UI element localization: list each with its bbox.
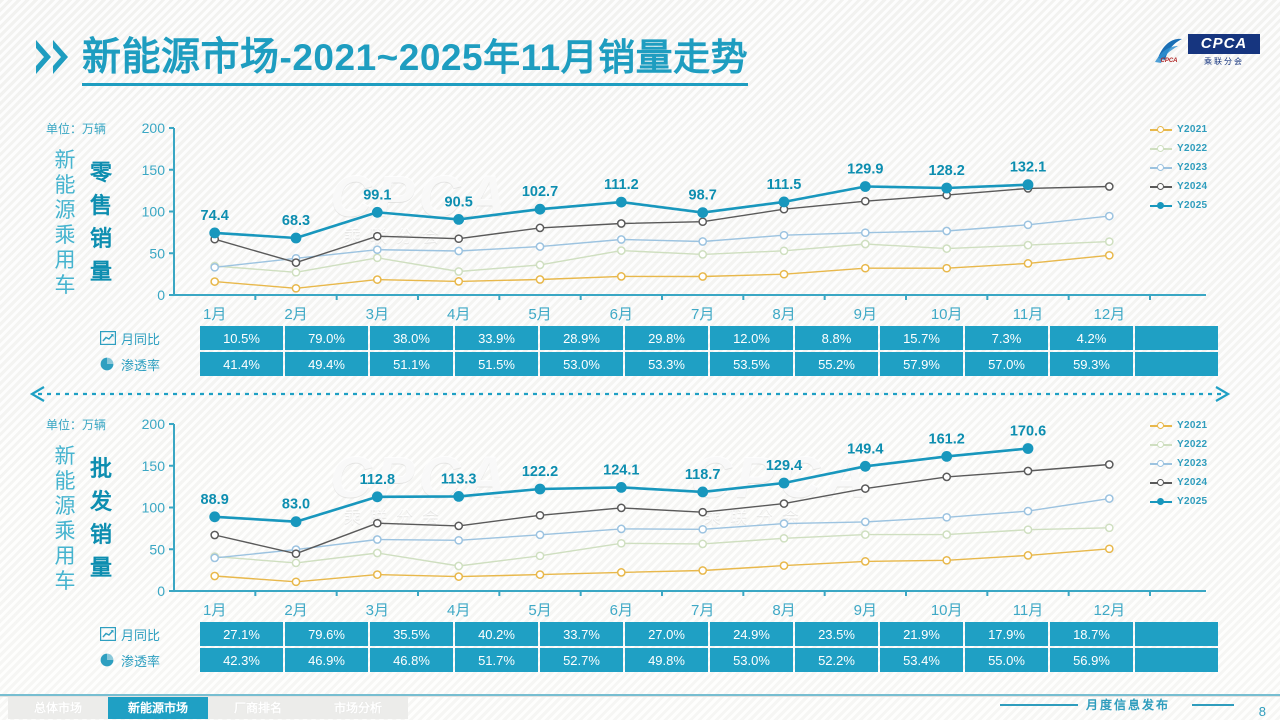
legend-wholesale: Y2021Y2022Y2023Y2024Y2025	[1150, 416, 1212, 511]
data-point-Y2024	[1106, 461, 1113, 468]
legend-item-label: Y2022	[1177, 143, 1207, 154]
table-cell: 35.5%	[370, 622, 453, 646]
table-row: 渗透率41.4%49.4%51.1%51.5%53.0%53.3%53.5%55…	[96, 352, 1218, 376]
table-cell: 46.8%	[370, 648, 453, 672]
table-cell: 42.3%	[200, 648, 283, 672]
table-cell	[1135, 352, 1218, 376]
y-axis-tick: 100	[142, 204, 166, 220]
metric-label-retail: 零售销量	[88, 156, 114, 288]
data-point-Y2023	[943, 227, 950, 234]
footer-release-label: 月度信息发布	[1086, 696, 1170, 713]
table-cell: 53.0%	[710, 648, 793, 672]
table-cell: 59.3%	[1050, 352, 1133, 376]
data-point-Y2023	[536, 531, 543, 538]
data-point-Y2022	[1024, 242, 1031, 249]
x-axis-tick: 12月	[1093, 306, 1125, 323]
cpca-logo-mark-text: CPCA	[1152, 58, 1186, 64]
data-point-Y2024	[699, 509, 706, 516]
x-axis-tick: 9月	[854, 602, 877, 619]
data-label: 161.2	[929, 431, 965, 447]
data-point-Y2023	[618, 236, 625, 243]
data-point-Y2022	[618, 247, 625, 254]
data-point-Y2024	[374, 520, 381, 527]
legend-marker-icon	[1150, 439, 1172, 451]
panel-wholesale: 单位：万辆 新能源乘用车 批发销量 CPCA 乘联分会 CPCA 乘联分会 05…	[0, 404, 1280, 686]
data-table-retail: 月同比10.5%79.0%38.0%33.9%28.9%29.8%12.0%8.…	[96, 326, 1218, 378]
data-point-Y2023	[374, 246, 381, 253]
data-label: 113.3	[441, 471, 477, 487]
unit-label-retail: 单位：万辆	[46, 120, 106, 137]
y-axis-tick: 50	[149, 541, 165, 557]
x-axis-tick: 11月	[1013, 602, 1044, 619]
y-axis-tick: 100	[142, 500, 166, 516]
data-point-Y2023	[374, 536, 381, 543]
data-point-Y2021	[211, 278, 218, 285]
table-cell: 33.7%	[540, 622, 623, 646]
legend-marker-icon	[1150, 162, 1172, 174]
data-point-Y2023	[455, 247, 462, 254]
table-row: 月同比10.5%79.0%38.0%33.9%28.9%29.8%12.0%8.…	[96, 326, 1218, 350]
data-label: 83.0	[282, 497, 310, 513]
table-cell: 52.2%	[795, 648, 878, 672]
table-cell: 51.5%	[455, 352, 538, 376]
data-label: 90.5	[445, 194, 473, 210]
x-axis-tick: 5月	[528, 306, 551, 323]
data-point-Y2021	[536, 571, 543, 578]
data-point-Y2023	[211, 264, 218, 271]
data-point-Y2024	[455, 522, 462, 529]
data-point-Y2022	[292, 559, 299, 566]
legend-marker-icon	[1150, 200, 1172, 212]
y-axis-tick: 0	[157, 583, 165, 599]
data-point-Y2021	[943, 265, 950, 272]
table-row-header: 渗透率	[96, 352, 200, 376]
table-cell	[1135, 326, 1218, 350]
data-label: 129.4	[766, 458, 802, 474]
cpca-logo-text: CPCA	[1188, 34, 1260, 54]
chart-retail: 0501001502001月2月3月4月5月6月7月8月9月10月11月12月7…	[128, 114, 1218, 319]
table-cell: 46.9%	[285, 648, 368, 672]
table-cell: 27.0%	[625, 622, 708, 646]
legend-marker-icon	[1150, 420, 1172, 432]
footer-release: 月度信息发布 8	[1000, 696, 1270, 720]
x-axis-tick: 2月	[284, 306, 307, 323]
data-point-Y2024	[292, 259, 299, 266]
table-row-header: 渗透率	[96, 648, 200, 672]
data-point-Y2024	[862, 485, 869, 492]
legend-item-Y2023[interactable]: Y2023	[1150, 454, 1212, 473]
x-axis-tick: 6月	[610, 602, 633, 619]
data-label: 118.7	[685, 467, 721, 483]
table-cell: 27.1%	[200, 622, 283, 646]
footer-line-left	[1000, 704, 1078, 706]
data-point-Y2025	[210, 512, 219, 521]
table-cell: 55.0%	[965, 648, 1048, 672]
legend-marker-icon	[1150, 496, 1172, 508]
data-point-Y2021	[699, 273, 706, 280]
series-line-Y2021	[215, 255, 1110, 288]
data-point-Y2022	[943, 531, 950, 538]
x-axis-tick: 7月	[691, 306, 714, 323]
cpca-logo: CPCA 乘联分会 CPCA	[1152, 32, 1262, 74]
data-point-Y2024	[536, 224, 543, 231]
data-point-Y2025	[373, 492, 382, 501]
legend-item-label: Y2023	[1177, 458, 1207, 469]
page-title: 新能源市场-2021~2025年11月销量走势	[82, 36, 748, 86]
footer-tab-2[interactable]: 厂商排名	[208, 697, 308, 719]
legend-item-Y2021[interactable]: Y2021	[1150, 416, 1212, 435]
x-axis-tick: 7月	[691, 602, 714, 619]
legend-marker-icon	[1150, 458, 1172, 470]
legend-item-Y2024[interactable]: Y2024	[1150, 177, 1212, 196]
data-point-Y2022	[1106, 524, 1113, 531]
data-point-Y2024	[536, 512, 543, 519]
table-cells: 41.4%49.4%51.1%51.5%53.0%53.3%53.5%55.2%…	[200, 352, 1218, 376]
table-row: 渗透率42.3%46.9%46.8%51.7%52.7%49.8%53.0%52…	[96, 648, 1218, 672]
legend-item-label: Y2022	[1177, 439, 1207, 450]
table-cell: 51.1%	[370, 352, 453, 376]
data-point-Y2025	[779, 478, 788, 487]
table-cell: 15.7%	[880, 326, 963, 350]
table-cell: 57.0%	[965, 352, 1048, 376]
data-point-Y2021	[374, 276, 381, 283]
table-cell: 53.4%	[880, 648, 963, 672]
table-row-header: 月同比	[96, 326, 200, 350]
legend-item-label: Y2025	[1177, 200, 1207, 211]
data-point-Y2022	[374, 254, 381, 261]
table-cell: 8.8%	[795, 326, 878, 350]
x-axis-tick: 8月	[772, 306, 795, 323]
data-point-Y2021	[1024, 552, 1031, 559]
x-axis-tick: 9月	[854, 306, 877, 323]
x-axis-tick: 2月	[284, 602, 307, 619]
y-axis-tick: 150	[142, 458, 166, 474]
table-cell: 12.0%	[710, 326, 793, 350]
legend-marker-icon	[1150, 124, 1172, 136]
section-divider	[24, 386, 1236, 402]
pie-chart-icon	[100, 357, 116, 371]
category-label-wholesale: 新能源乘用车	[52, 444, 78, 594]
chart-wholesale: 0501001502001月2月3月4月5月6月7月8月9月10月11月12月8…	[128, 410, 1218, 615]
data-point-Y2021	[780, 562, 787, 569]
data-point-Y2021	[862, 265, 869, 272]
data-point-Y2022	[780, 247, 787, 254]
data-point-Y2023	[699, 238, 706, 245]
legend-item-label: Y2021	[1177, 124, 1207, 135]
data-point-Y2024	[1024, 467, 1031, 474]
cpca-logo-subtitle: 乘联分会	[1188, 56, 1260, 67]
table-cell: 79.0%	[285, 326, 368, 350]
data-point-Y2025	[617, 198, 626, 207]
data-point-Y2025	[291, 517, 300, 526]
series-line-Y2023	[215, 216, 1110, 267]
data-label: 124.1	[603, 462, 639, 478]
data-point-Y2021	[618, 273, 625, 280]
legend-marker-icon	[1150, 181, 1172, 193]
data-point-Y2022	[780, 535, 787, 542]
data-point-Y2024	[780, 500, 787, 507]
chart-retail-svg: 0501001502001月2月3月4月5月6月7月8月9月10月11月12月7…	[128, 114, 1218, 329]
data-point-Y2023	[780, 520, 787, 527]
data-point-Y2023	[618, 525, 625, 532]
data-point-Y2023	[862, 229, 869, 236]
table-cell: 56.9%	[1050, 648, 1133, 672]
data-label: 88.9	[201, 492, 229, 508]
data-point-Y2021	[211, 572, 218, 579]
table-cells: 42.3%46.9%46.8%51.7%52.7%49.8%53.0%52.2%…	[200, 648, 1218, 672]
data-point-Y2025	[454, 492, 463, 501]
data-point-Y2022	[1024, 526, 1031, 533]
data-point-Y2025	[535, 484, 544, 493]
data-point-Y2025	[698, 487, 707, 496]
data-point-Y2025	[861, 182, 870, 191]
table-cell: 53.0%	[540, 352, 623, 376]
data-point-Y2025	[454, 215, 463, 224]
slide-footer: 总体市场新能源市场厂商排名市场分析 月度信息发布 8	[0, 694, 1280, 720]
data-point-Y2025	[779, 197, 788, 206]
series-line-Y2024	[215, 187, 1110, 263]
slide: 新能源市场-2021~2025年11月销量走势 CPCA 乘联分会 CPCA 单…	[0, 0, 1280, 720]
x-axis-tick: 6月	[610, 306, 633, 323]
table-cell: 49.8%	[625, 648, 708, 672]
category-label-retail: 新能源乘用车	[52, 148, 78, 298]
data-point-Y2022	[618, 540, 625, 547]
data-label: 98.7	[689, 188, 717, 204]
data-point-Y2021	[292, 578, 299, 585]
legend-item-Y2023[interactable]: Y2023	[1150, 158, 1212, 177]
data-point-Y2025	[291, 233, 300, 242]
legend-item-label: Y2023	[1177, 162, 1207, 173]
x-axis-tick: 4月	[447, 306, 470, 323]
data-point-Y2022	[455, 562, 462, 569]
data-point-Y2025	[210, 228, 219, 237]
table-cell: 23.5%	[795, 622, 878, 646]
data-point-Y2025	[861, 462, 870, 471]
chart-wholesale-svg: 0501001502001月2月3月4月5月6月7月8月9月10月11月12月8…	[128, 410, 1218, 625]
footer-tabs: 总体市场新能源市场厂商排名市场分析	[8, 697, 408, 719]
legend-item-label: Y2024	[1177, 181, 1207, 192]
data-point-Y2025	[942, 452, 951, 461]
data-point-Y2025	[698, 208, 707, 217]
data-label: 99.1	[363, 187, 391, 203]
table-cell: 17.9%	[965, 622, 1048, 646]
data-point-Y2025	[1023, 180, 1032, 189]
table-cell: 18.7%	[1050, 622, 1133, 646]
data-point-Y2021	[455, 573, 462, 580]
table-cell: 28.9%	[540, 326, 623, 350]
legend-marker-icon	[1150, 477, 1172, 489]
data-point-Y2021	[1024, 260, 1031, 267]
series-line-Y2021	[215, 549, 1110, 582]
x-axis-tick: 5月	[528, 602, 551, 619]
data-point-Y2024	[618, 504, 625, 511]
slide-header: 新能源市场-2021~2025年11月销量走势 CPCA 乘联分会 CPCA	[0, 14, 1280, 84]
page-title-main: 新能源市场	[82, 36, 280, 79]
footer-tab-0[interactable]: 总体市场	[8, 697, 108, 719]
x-axis-tick: 4月	[447, 602, 470, 619]
data-point-Y2023	[699, 526, 706, 533]
data-point-Y2023	[455, 537, 462, 544]
data-point-Y2021	[618, 569, 625, 576]
data-point-Y2025	[373, 208, 382, 217]
table-cell: 51.7%	[455, 648, 538, 672]
x-axis-tick: 10月	[931, 306, 963, 323]
legend-retail: Y2021Y2022Y2023Y2024Y2025	[1150, 120, 1212, 215]
table-cells: 10.5%79.0%38.0%33.9%28.9%29.8%12.0%8.8%1…	[200, 326, 1218, 350]
legend-item-Y2024[interactable]: Y2024	[1150, 473, 1212, 492]
legend-marker-icon	[1150, 143, 1172, 155]
data-point-Y2023	[862, 518, 869, 525]
x-axis-tick: 8月	[772, 602, 795, 619]
data-label: 74.4	[201, 208, 229, 224]
table-cells: 27.1%79.6%35.5%40.2%33.7%27.0%24.9%23.5%…	[200, 622, 1218, 646]
data-label: 170.6	[1010, 424, 1046, 440]
table-cell: 7.3%	[965, 326, 1048, 350]
footer-tab-3[interactable]: 市场分析	[308, 697, 408, 719]
pie-chart-icon	[100, 653, 116, 667]
legend-item-label: Y2025	[1177, 496, 1207, 507]
data-point-Y2022	[292, 269, 299, 276]
data-label: 112.8	[360, 472, 396, 488]
x-axis-tick: 3月	[366, 306, 389, 323]
legend-item-Y2025[interactable]: Y2025	[1150, 492, 1212, 511]
double-chevron-icon	[36, 40, 68, 74]
table-cell	[1135, 648, 1218, 672]
unit-label-wholesale: 单位：万辆	[46, 416, 106, 433]
y-axis-tick: 200	[142, 120, 166, 136]
data-point-Y2024	[455, 235, 462, 242]
data-point-Y2023	[943, 514, 950, 521]
table-cell: 49.4%	[285, 352, 368, 376]
y-axis-tick: 0	[157, 287, 165, 303]
table-cell: 10.5%	[200, 326, 283, 350]
data-point-Y2023	[1024, 221, 1031, 228]
table-cell: 38.0%	[370, 326, 453, 350]
data-point-Y2024	[699, 218, 706, 225]
panel-retail: 单位：万辆 新能源乘用车 零售销量 CPCA 乘联分会 050100150200…	[0, 108, 1280, 390]
data-point-Y2021	[699, 567, 706, 574]
legend-item-Y2025[interactable]: Y2025	[1150, 196, 1212, 215]
data-label: 102.7	[522, 184, 558, 200]
data-point-Y2021	[455, 278, 462, 285]
table-cell: 52.7%	[540, 648, 623, 672]
metric-label-wholesale: 批发销量	[88, 452, 114, 584]
legend-item-label: Y2024	[1177, 477, 1207, 488]
table-row-label: 月同比	[121, 329, 160, 348]
table-cell: 33.9%	[455, 326, 538, 350]
data-point-Y2022	[862, 240, 869, 247]
legend-item-Y2021[interactable]: Y2021	[1150, 120, 1212, 139]
table-cell: 41.4%	[200, 352, 283, 376]
table-cell: 24.9%	[710, 622, 793, 646]
series-line-Y2024	[215, 465, 1110, 554]
table-row-label: 月同比	[121, 625, 160, 644]
legend-item-Y2022[interactable]: Y2022	[1150, 139, 1212, 158]
data-point-Y2024	[1106, 183, 1113, 190]
table-cell: 40.2%	[455, 622, 538, 646]
data-point-Y2024	[374, 233, 381, 240]
data-point-Y2022	[862, 531, 869, 538]
data-point-Y2022	[374, 549, 381, 556]
table-cell	[1135, 622, 1218, 646]
x-axis-tick: 11月	[1013, 306, 1044, 323]
table-cell: 57.9%	[880, 352, 963, 376]
series-line-Y2022	[215, 242, 1110, 273]
table-cell: 53.3%	[625, 352, 708, 376]
table-row-header: 月同比	[96, 622, 200, 646]
data-label: 129.9	[847, 162, 883, 178]
legend-item-label: Y2021	[1177, 420, 1207, 431]
footer-line-right	[1192, 704, 1234, 706]
table-cell: 29.8%	[625, 326, 708, 350]
data-point-Y2022	[455, 268, 462, 275]
data-label: 149.4	[847, 441, 883, 457]
data-point-Y2021	[374, 571, 381, 578]
data-label: 122.2	[522, 464, 558, 480]
data-point-Y2025	[617, 483, 626, 492]
x-axis-tick: 1月	[203, 602, 226, 619]
table-cell: 55.2%	[795, 352, 878, 376]
y-axis-tick: 200	[142, 416, 166, 432]
data-point-Y2021	[292, 285, 299, 292]
table-row-label: 渗透率	[121, 651, 160, 670]
data-point-Y2022	[943, 245, 950, 252]
y-axis-tick: 150	[142, 162, 166, 178]
data-point-Y2023	[211, 554, 218, 561]
data-point-Y2023	[1106, 213, 1113, 220]
data-point-Y2021	[1106, 545, 1113, 552]
data-point-Y2025	[535, 205, 544, 214]
data-point-Y2024	[292, 550, 299, 557]
data-label: 128.2	[929, 163, 965, 179]
data-point-Y2024	[211, 531, 218, 538]
data-point-Y2023	[1106, 495, 1113, 502]
data-point-Y2021	[862, 558, 869, 565]
x-axis-tick: 10月	[931, 602, 963, 619]
x-axis-tick: 1月	[203, 306, 226, 323]
page-title-rest: -2021~2025年11月销量走势	[280, 37, 749, 78]
data-point-Y2022	[699, 540, 706, 547]
data-point-Y2025	[942, 183, 951, 192]
data-point-Y2021	[1106, 252, 1113, 259]
page-number: 8	[1259, 704, 1266, 719]
data-point-Y2021	[780, 271, 787, 278]
data-point-Y2025	[1023, 444, 1032, 453]
table-cell: 53.5%	[710, 352, 793, 376]
data-label: 111.5	[767, 177, 802, 193]
data-point-Y2023	[780, 232, 787, 239]
data-point-Y2021	[536, 276, 543, 283]
data-point-Y2023	[536, 243, 543, 250]
data-point-Y2022	[536, 261, 543, 268]
legend-item-Y2022[interactable]: Y2022	[1150, 435, 1212, 454]
data-point-Y2024	[862, 198, 869, 205]
data-point-Y2022	[699, 251, 706, 258]
trend-chart-icon	[100, 627, 116, 641]
trend-chart-icon	[100, 331, 116, 345]
data-point-Y2023	[1024, 508, 1031, 515]
footer-tab-1[interactable]: 新能源市场	[108, 697, 208, 719]
data-point-Y2021	[943, 557, 950, 564]
data-label: 68.3	[282, 213, 310, 229]
table-row: 月同比27.1%79.6%35.5%40.2%33.7%27.0%24.9%23…	[96, 622, 1218, 646]
y-axis-tick: 50	[149, 245, 165, 261]
data-point-Y2024	[618, 220, 625, 227]
data-point-Y2024	[943, 473, 950, 480]
x-axis-tick: 3月	[366, 602, 389, 619]
x-axis-tick: 12月	[1093, 602, 1125, 619]
table-cell: 21.9%	[880, 622, 963, 646]
